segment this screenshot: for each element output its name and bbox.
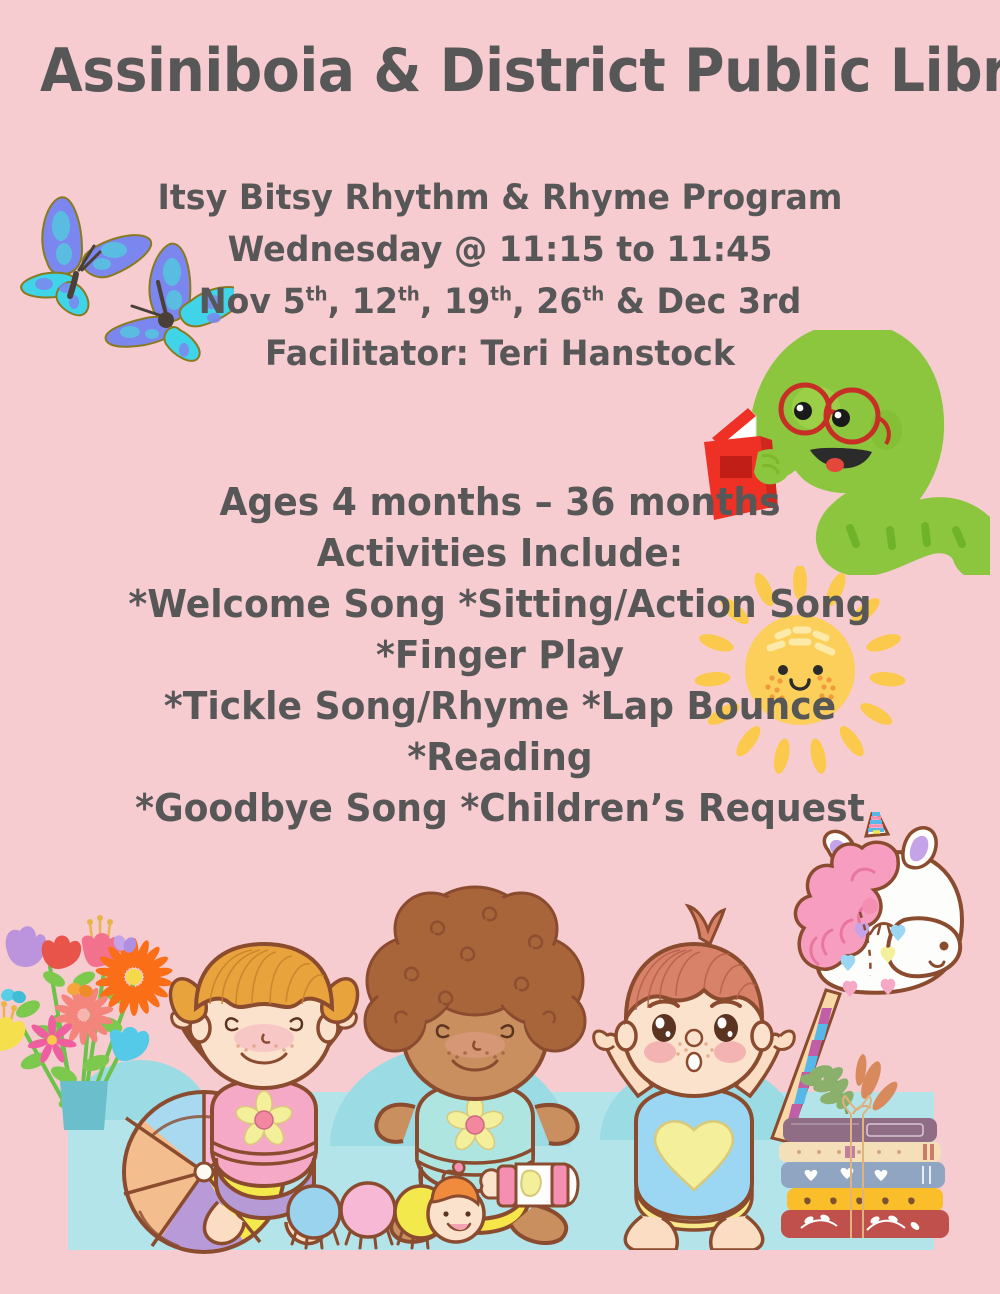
dates-ordinal-1: th — [306, 282, 328, 305]
caterpillar-bead-blue — [288, 1186, 340, 1238]
dates-ordinal-4: th — [583, 282, 605, 305]
activity-line: *Welcome Song *Sitting/Action Song — [25, 579, 975, 630]
flower-purple-tulip — [6, 926, 47, 967]
eye-right — [714, 1014, 738, 1042]
eye-left — [652, 1014, 676, 1042]
activity-line: *Reading — [25, 732, 975, 783]
baby-bottle — [468, 1152, 588, 1222]
book-5 — [781, 1210, 949, 1238]
program-name: Itsy Bitsy Rhythm & Rhyme Program — [25, 172, 975, 224]
blush-right — [714, 1041, 746, 1063]
book-2 — [779, 1142, 941, 1162]
book-1 — [783, 1118, 937, 1142]
book-4 — [787, 1188, 943, 1212]
blush — [234, 1024, 294, 1052]
dates-mid-2: , 19 — [420, 282, 490, 322]
plant-sprig — [799, 1053, 901, 1114]
activity-line: *Tickle Song/Rhyme *Lap Bounce — [25, 681, 975, 732]
dates-prefix: Nov 5 — [199, 282, 306, 322]
dates-mid-3: , 26 — [512, 282, 582, 322]
dates-ordinal-2: th — [398, 282, 420, 305]
flower-red — [42, 936, 82, 970]
blush-left — [644, 1041, 676, 1063]
mouth-o — [687, 1053, 701, 1071]
dates-mid-1: , 12 — [328, 282, 398, 322]
activities-heading: Activities Include: — [25, 528, 975, 579]
poster-canvas: Assiniboia & District Public Library Its… — [0, 0, 1000, 1294]
activity-line: *Finger Play — [25, 630, 975, 681]
dates-suffix: & Dec 3rd — [604, 282, 801, 322]
activity-line: *Goodbye Song *Children’s Request — [25, 783, 975, 834]
activities-info: Ages 4 months – 36 months Activities Inc… — [25, 477, 975, 834]
program-info: Itsy Bitsy Rhythm & Rhyme Program Wednes… — [25, 172, 975, 380]
dates-ordinal-3: th — [490, 282, 512, 305]
program-schedule: Wednesday @ 11:15 to 11:45 — [25, 224, 975, 276]
page-title: Assiniboia & District Public Library — [40, 36, 960, 106]
program-dates: Nov 5th, 12th, 19th, 26th & Dec 3rd — [25, 276, 975, 328]
activities-ages: Ages 4 months – 36 months — [25, 477, 975, 528]
flower-blue-tulip — [110, 1027, 150, 1061]
program-facilitator: Facilitator: Teri Hanstock — [25, 328, 975, 380]
caterpillar-bead-pink — [341, 1183, 395, 1237]
stacked-books-illustration — [775, 1040, 955, 1240]
blush — [445, 1032, 505, 1058]
caterpillar-pull-toy — [278, 1160, 498, 1260]
